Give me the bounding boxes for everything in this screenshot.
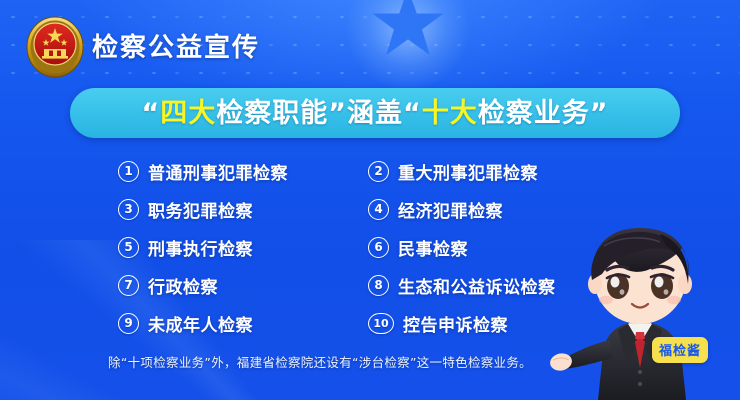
list-item-number-badge: 7 — [118, 275, 139, 296]
list-item-number-badge: 4 — [368, 199, 389, 220]
list-item-label: 民事检察 — [398, 235, 468, 260]
poster-canvas: 检察公益宣传 “四大检察职能”涵盖“十大检察业务” 1普通刑事犯罪检察3职务犯罪… — [0, 0, 740, 400]
title-plain-segment: 检察职能”涵盖“ — [216, 98, 422, 129]
list-item-label: 控告申诉检察 — [403, 311, 508, 336]
mascot-name-badge: 福检酱 — [652, 337, 708, 363]
mascot-illustration — [540, 212, 740, 400]
list-item-label: 职务犯罪检察 — [148, 197, 253, 222]
list-item-label: 普通刑事犯罪检察 — [148, 159, 288, 184]
list-item-label: 刑事执行检察 — [148, 235, 253, 260]
list-item-number-badge: 10 — [368, 313, 394, 334]
title-banner-text: “四大检察职能”涵盖“十大检察业务” — [142, 100, 609, 127]
title-highlight-segment: 十大 — [422, 98, 478, 129]
procuratorate-emblem-icon — [22, 14, 88, 80]
list-item-number-badge: 9 — [118, 313, 139, 334]
list-item-label: 生态和公益诉讼检察 — [398, 273, 556, 298]
list-item-number-badge: 2 — [368, 161, 389, 182]
title-plain-segment: “ — [142, 98, 161, 129]
list-item-label: 重大刑事犯罪检察 — [398, 159, 538, 184]
list-item-number-badge: 8 — [368, 275, 389, 296]
page-title: 检察公益宣传 — [92, 27, 260, 64]
list-item-number-badge: 1 — [118, 161, 139, 182]
title-banner: “四大检察职能”涵盖“十大检察业务” — [70, 88, 680, 138]
header: 检察公益宣传 — [0, 0, 740, 85]
title-plain-segment: 检察业务” — [478, 98, 609, 129]
list-item-label: 行政检察 — [148, 273, 218, 298]
title-highlight-segment: 四大 — [160, 98, 216, 129]
list-item[interactable]: 2重大刑事犯罪检察 — [368, 152, 668, 190]
list-item-label: 未成年人检察 — [148, 311, 253, 336]
list-item-number-badge: 6 — [368, 237, 389, 258]
list-item-label: 经济犯罪检察 — [398, 197, 503, 222]
list-item-number-badge: 3 — [118, 199, 139, 220]
list-item-number-badge: 5 — [118, 237, 139, 258]
